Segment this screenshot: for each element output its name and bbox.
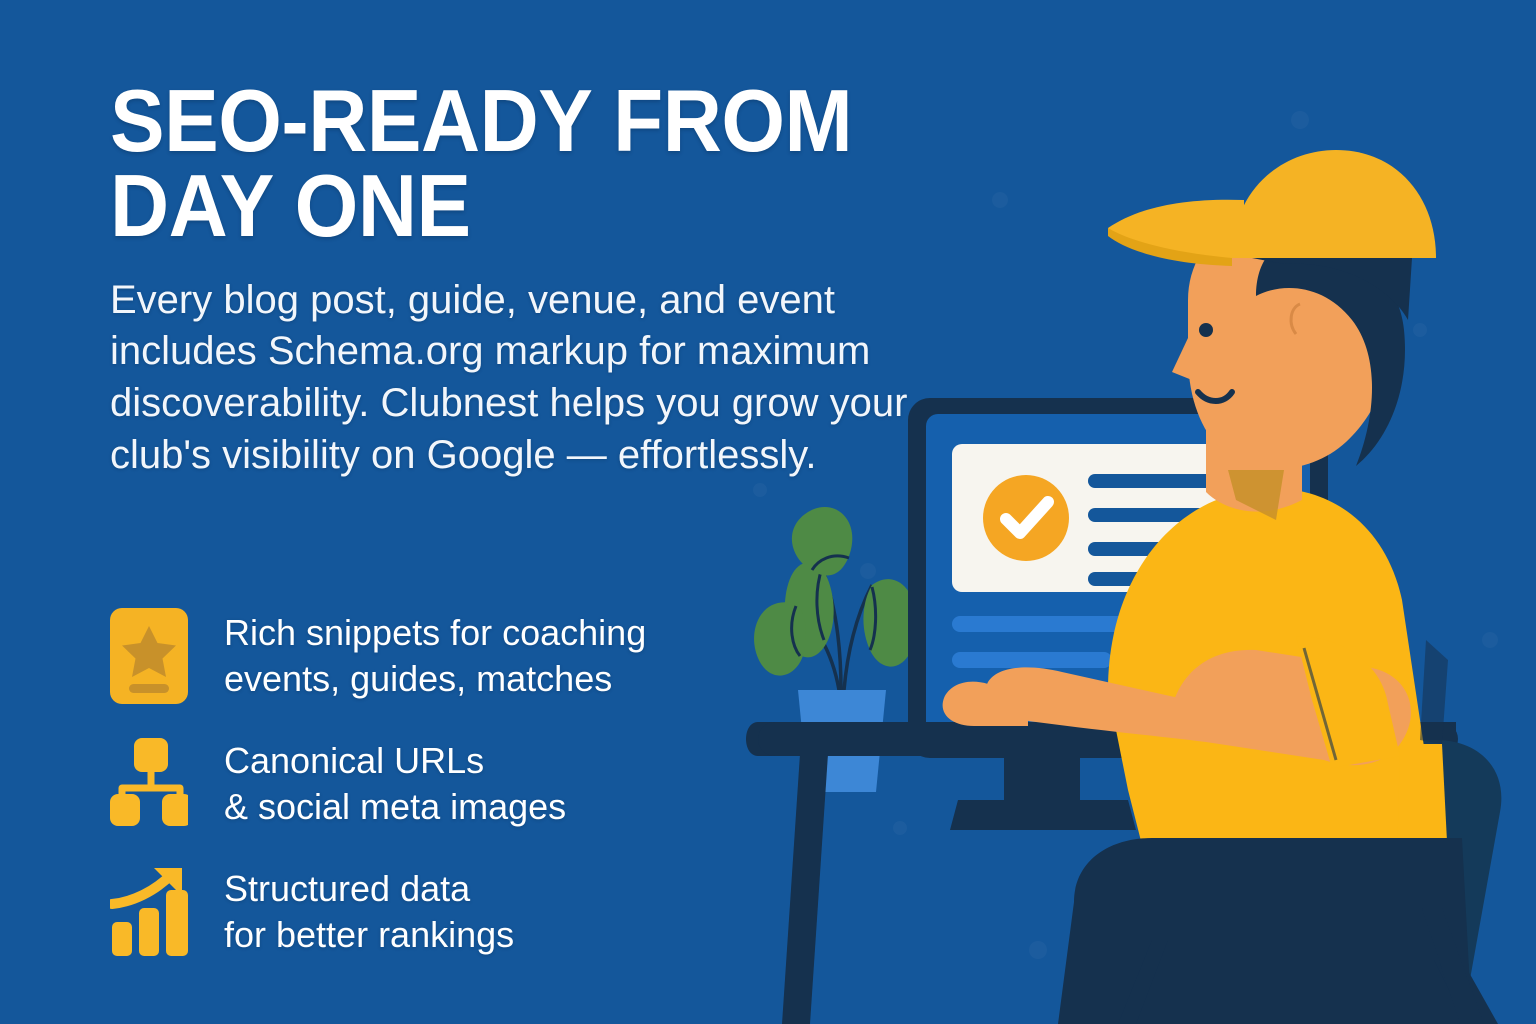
promo-graphic-canvas: SEO-Ready From Day One Every blog post, … [0,0,1536,1024]
list-item: Rich snippets for coaching events, guide… [110,604,810,708]
sitemap-icon [110,732,202,836]
page-title: SEO-Ready From Day One [110,78,928,249]
list-item-label: Rich snippets for coaching events, guide… [224,604,646,701]
check-circle-icon [983,475,1069,561]
list-item-label: Structured data for better rankings [224,860,514,957]
feature-list: Rich snippets for coaching events, guide… [110,604,810,964]
growth-bar-chart-icon [110,860,202,964]
rich-snippet-badge-icon [110,604,202,708]
list-item-label: Canonical URLs & social meta images [224,732,566,829]
left-content-column: SEO-Ready From Day One Every blog post, … [110,78,990,481]
subheading-paragraph: Every blog post, guide, venue, and event… [110,275,990,481]
list-item: Canonical URLs & social meta images [110,732,810,836]
list-item: Structured data for better rankings [110,860,810,964]
